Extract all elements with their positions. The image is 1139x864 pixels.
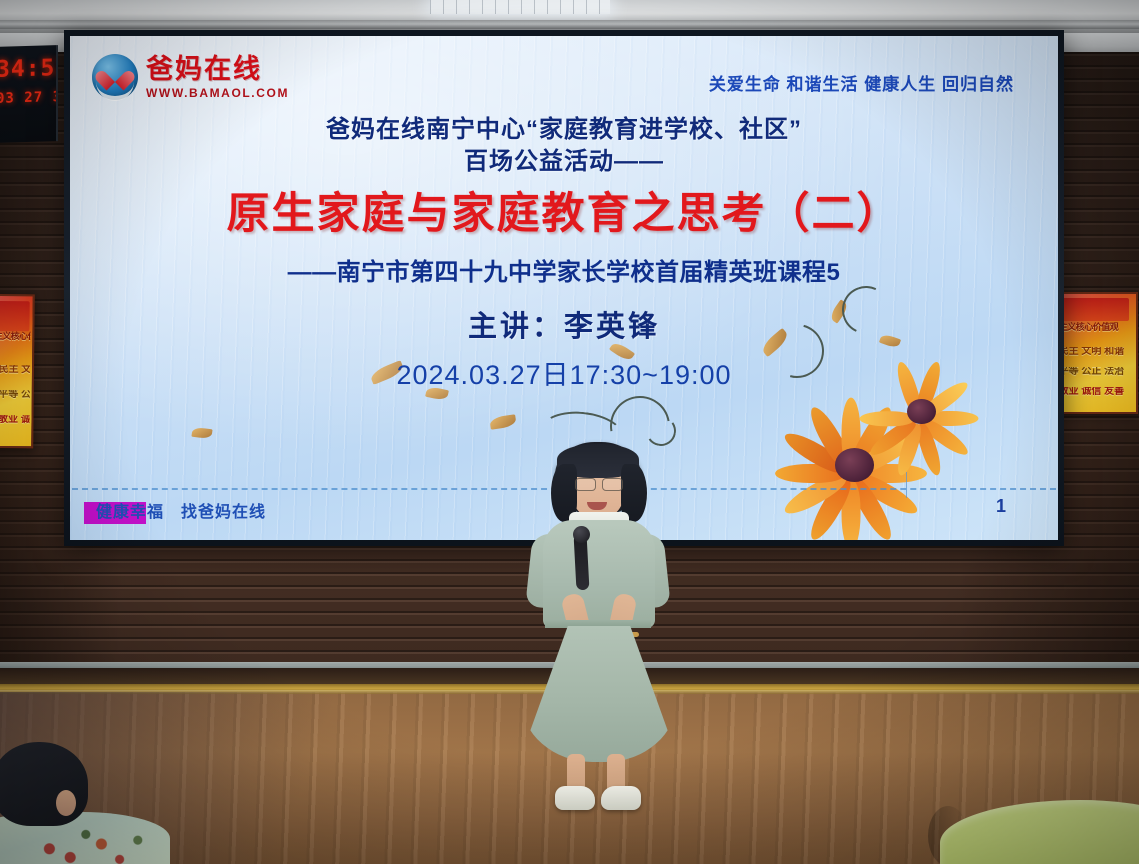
logo-website-url: WWW.BAMAOL.COM: [146, 87, 289, 99]
led-clock-display: 34:53 03 27 3: [0, 45, 58, 143]
slide-main-title: 原生家庭与家庭教育之思考（二）: [70, 189, 1058, 241]
ceiling-light-panel: [430, 0, 610, 14]
presenter-bodice: [543, 520, 655, 628]
clock-time: 34:53: [0, 55, 58, 83]
slide-footer-text: 健康幸福 找爸妈在线: [96, 498, 266, 522]
slide-page-number: 1: [996, 496, 1006, 517]
slide-heading-line1: 爸妈在线南宁中心“家庭教育进学校、社区”: [70, 114, 1058, 146]
logo-wing-shape: [96, 78, 134, 101]
poster-line: 自由 平等 公正 法治: [0, 390, 30, 401]
light-grid: [430, 0, 610, 14]
slide-datetime: 2024.03.27日17:30~19:00: [70, 353, 1058, 392]
presenter-shoe-left: [555, 786, 595, 810]
core-values-poster-left: 社会主义核心价值观 富强 民主 文明 和谐 自由 平等 公正 法治 爱国 敬业 …: [0, 294, 35, 449]
slide-divider-tick: [906, 472, 907, 498]
clock-date: 03 27 3: [0, 89, 58, 107]
flower-center: [907, 399, 935, 424]
presenter-skirt: [521, 626, 677, 762]
microphone-head: [573, 526, 590, 543]
presenter: [503, 442, 693, 820]
ceiling: [0, 0, 1139, 34]
photo-scene: 34:53 03 27 3 社会主义核心价值观 富强 民主 文明 和谐 自由 平…: [0, 0, 1139, 864]
slide-slogan: 关爱生命 和谐生活 健康人生 回归自然: [709, 70, 1014, 95]
logo-text-block: 爸妈在线 WWW.BAMAOL.COM: [146, 56, 289, 99]
poster-line: 爱国 敬业 诚信 友善: [0, 415, 30, 426]
presenter-shoe-right: [601, 786, 641, 810]
heart-shield-icon: [92, 54, 138, 100]
poster-title-left: 社会主义核心价值观: [0, 329, 30, 343]
audience-floral-pattern: [26, 820, 156, 864]
leaf-decoration: [191, 427, 212, 440]
slide-subtitle: ——南宁市第四十九中学家长学校首届精英班课程5: [70, 252, 1058, 287]
poster-values-left: 富强 民主 文明 和谐 自由 平等 公正 法治 爱国 敬业 诚信 友善: [0, 350, 30, 441]
slide-speaker: 主讲：李英锋: [70, 303, 1058, 345]
leaf-decoration: [489, 414, 516, 430]
ceiling-beam: [0, 20, 1139, 29]
audience-ear: [56, 790, 76, 816]
bamaol-logo: 爸妈在线 WWW.BAMAOL.COM: [92, 54, 289, 100]
poster-header-band: [0, 300, 29, 331]
audience-head: [0, 742, 88, 826]
logo-brand-name: 爸妈在线: [146, 56, 289, 83]
presenter-glasses: [575, 478, 623, 489]
slide-title-block: 爸妈在线南宁中心“家庭教育进学校、社区” 百场公益活动—— 原生家庭与家庭教育之…: [70, 114, 1058, 392]
poster-line: 富强 民主 文明 和谐: [0, 365, 30, 376]
slide-heading-line2: 百场公益活动——: [70, 146, 1058, 178]
